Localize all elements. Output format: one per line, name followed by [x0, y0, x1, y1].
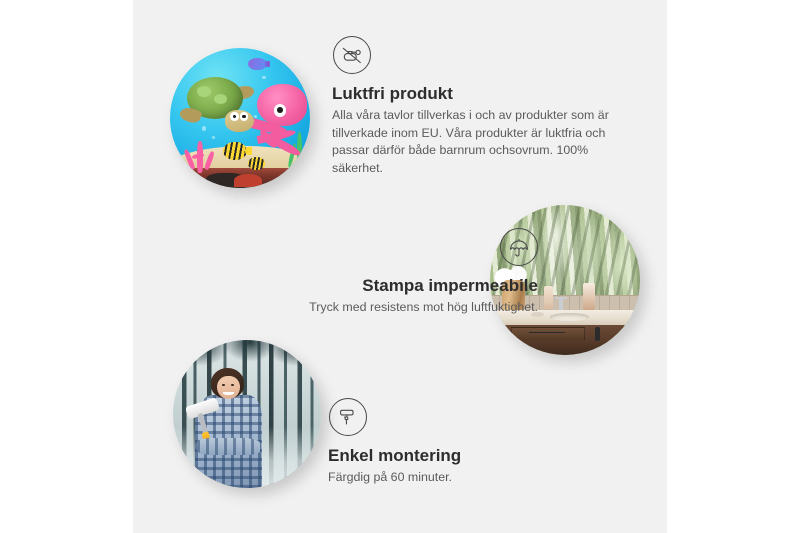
bubble-icon [202, 126, 206, 130]
yellow-striped-fish-small [248, 157, 265, 170]
person-folded-arms [197, 438, 261, 456]
infographic-canvas: Luktfri produkt Alla våra tavlor tillver… [133, 0, 667, 533]
product-feature-infographic: Luktfri produkt Alla våra tavlor tillver… [0, 0, 800, 533]
forest-canopy [173, 340, 321, 390]
feature-description: Tryck med resistens mot hög luftfuktighe… [208, 299, 538, 317]
turtle-eye [230, 112, 238, 120]
soap-bottle [583, 283, 595, 310]
photo-painter-forest-mural [173, 340, 321, 488]
paint-roller-icon [329, 398, 367, 436]
feature-description: Färgdig på 60 minuter. [328, 469, 608, 487]
seagrass [297, 132, 301, 166]
feature-waterproof: Stampa impermeabile Tryck med resistens … [208, 228, 538, 317]
pink-coral [183, 136, 219, 172]
cabinet-handle-icon [622, 327, 627, 341]
icon-row [208, 228, 538, 275]
feature-title: Enkel montering [328, 445, 608, 466]
cabinet-handle-icon [595, 327, 600, 341]
octopus-eye [274, 104, 287, 117]
turtle-head [225, 110, 254, 132]
feature-description: Alla våra tavlor tillverkas i och av pro… [332, 107, 628, 177]
soap-bottle [544, 286, 553, 309]
sea-rock-red [234, 174, 262, 187]
sink-basin [550, 313, 589, 321]
no-fragrance-icon [333, 36, 371, 74]
umbrella-icon [500, 228, 538, 266]
underwater-scene-art [170, 48, 310, 188]
feature-easy-mounting: Enkel montering Färgdig på 60 minuter. [328, 398, 608, 487]
wooden-vanity [490, 325, 640, 355]
person-face [217, 376, 239, 400]
forest-scene-art [173, 340, 321, 488]
yellow-striped-fish [223, 142, 247, 160]
drawer-handle-icon [529, 332, 565, 333]
vanity-drawer [511, 327, 585, 341]
purple-fish [248, 58, 266, 71]
photo-underwater-mural [170, 48, 310, 188]
feature-title: Stampa impermeabile [208, 275, 538, 296]
feature-title: Luktfri produkt [332, 83, 628, 104]
feature-odorless: Luktfri produkt Alla våra tavlor tillver… [332, 36, 628, 178]
